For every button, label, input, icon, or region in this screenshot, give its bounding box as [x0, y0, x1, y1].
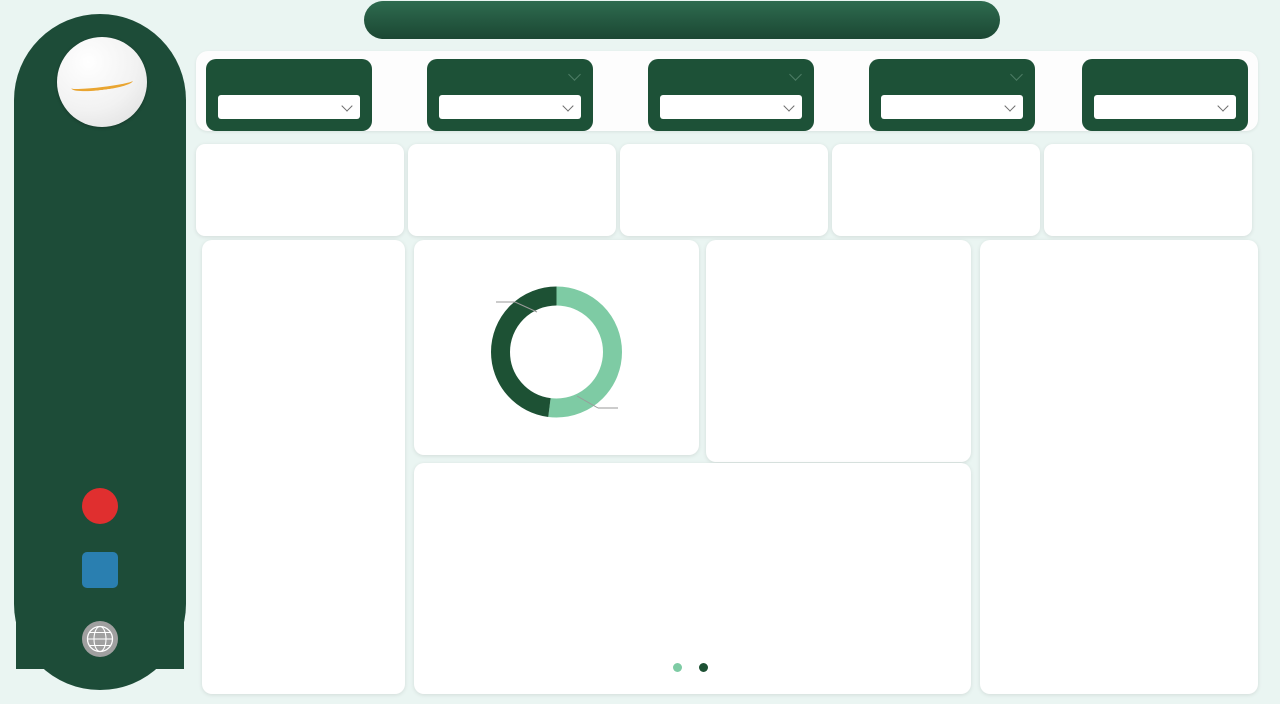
chevron-down-icon — [562, 100, 573, 111]
chart-title — [414, 463, 971, 472]
chart-title — [980, 240, 1258, 249]
youtube-icon — [82, 488, 118, 524]
social-link-youtube[interactable] — [16, 488, 184, 524]
dashboard-root — [0, 0, 1280, 704]
slicer-department-dropdown[interactable] — [1094, 95, 1236, 119]
linkedin-icon — [82, 552, 118, 588]
slicer-year[interactable] — [206, 59, 372, 131]
slicer-job-role[interactable] — [648, 59, 814, 131]
chevron-down-icon — [783, 100, 794, 111]
slicer-manager-dropdown[interactable] — [881, 95, 1023, 119]
chart-resigned-employees-pct-by-gender[interactable] — [706, 240, 971, 462]
logo-swoosh-icon — [71, 75, 134, 93]
legend-item-female[interactable] — [673, 663, 686, 672]
brand-logo — [57, 37, 147, 127]
kpi-card-active-employees[interactable] — [408, 144, 616, 236]
chart-active-employees-pct-by-job-role[interactable] — [980, 240, 1258, 694]
slicer-department[interactable] — [1082, 59, 1248, 131]
donut-plot — [414, 240, 699, 455]
chevron-down-icon — [1217, 100, 1228, 111]
slicer-month-name[interactable] — [427, 59, 593, 131]
social-link-website[interactable] — [16, 621, 184, 657]
kpi-card-total-employees[interactable] — [196, 144, 404, 236]
globe-www-icon — [82, 621, 118, 657]
slicer-year-dropdown[interactable] — [218, 95, 360, 119]
slicer-manager[interactable] — [869, 59, 1035, 131]
chart-total-employees-by-gender[interactable] — [414, 240, 699, 455]
kpi-card-terminated-employees[interactable] — [832, 144, 1040, 236]
slicer-bar — [196, 51, 1258, 131]
chart-avg-performance-by-department[interactable] — [202, 240, 405, 694]
chevron-down-icon — [1010, 68, 1023, 81]
chevron-down-icon — [789, 68, 802, 81]
chart-active-employees-by-job-role-and-gender[interactable] — [414, 463, 971, 694]
chevron-down-icon — [568, 68, 581, 81]
legend-swatch-male — [699, 663, 708, 672]
chart-title — [706, 240, 971, 248]
chart-legend — [414, 663, 971, 672]
legend-swatch-female — [673, 663, 682, 672]
chevron-down-icon — [1004, 100, 1015, 111]
chevron-down-icon — [341, 100, 352, 111]
legend-item-male[interactable] — [699, 663, 712, 672]
slicer-month-name-dropdown[interactable] — [439, 95, 581, 119]
kpi-card-avg-performance-rating[interactable] — [1044, 144, 1252, 236]
stacked-bars — [458, 496, 953, 623]
kpi-card-resigned-employees[interactable] — [620, 144, 828, 236]
chart-title — [202, 240, 405, 249]
treemap-plot — [714, 267, 963, 454]
page-title — [364, 1, 1000, 39]
slicer-job-role-dropdown[interactable] — [660, 95, 802, 119]
social-link-linkedin[interactable] — [16, 552, 184, 588]
sidebar-nav — [16, 181, 184, 669]
